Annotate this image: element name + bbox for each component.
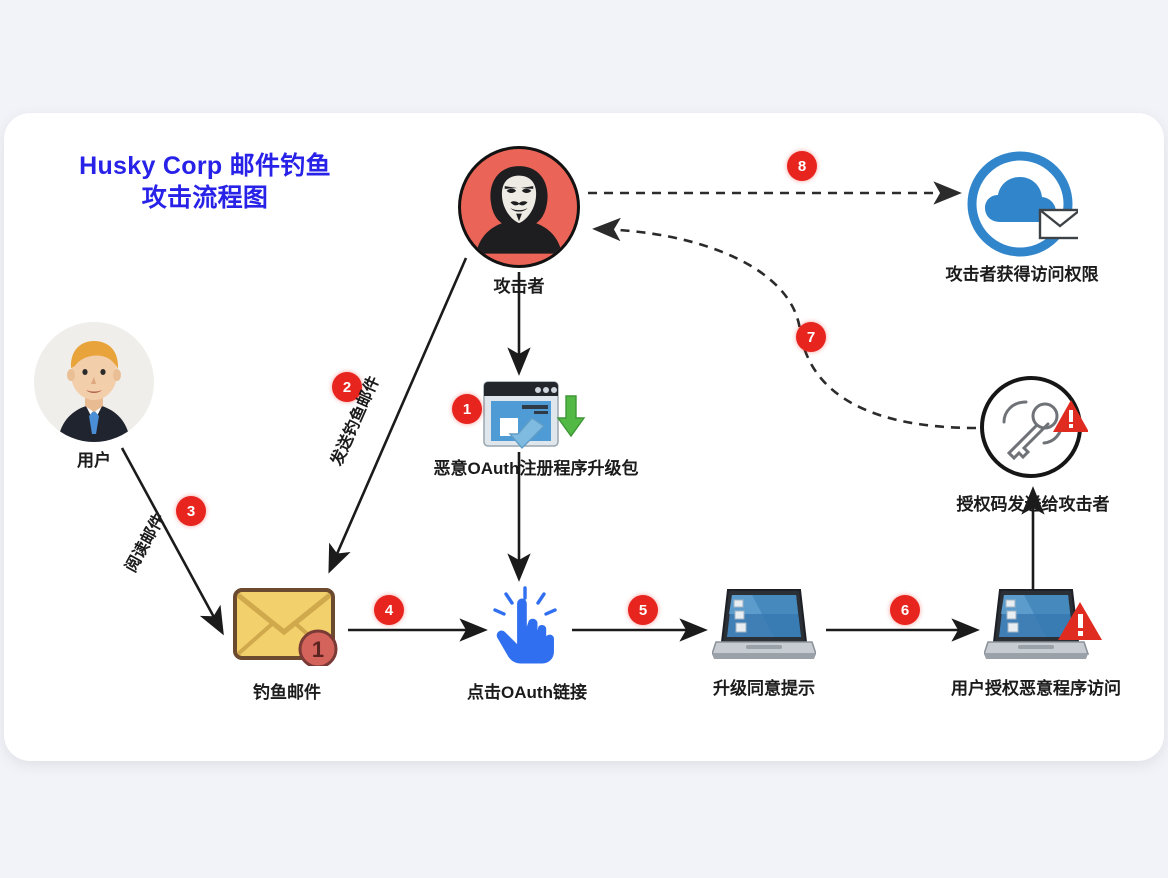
node-phishing-mail[interactable]: 1 钓鱼邮件 — [232, 586, 342, 666]
node-oauth-package[interactable]: 恶意OAuth注册程序升级包 — [478, 378, 586, 450]
node-grant-access-label: 用户授权恶意程序访问 — [951, 674, 1121, 699]
cloud-mail-icon — [966, 150, 1078, 262]
badge-step-3: 3 — [176, 496, 206, 526]
svg-text:1: 1 — [312, 637, 324, 662]
diagram-title: Husky Corp 邮件钓鱼 攻击流程图 — [60, 150, 350, 214]
node-auth-code-label: 授权码发送给攻击者 — [957, 490, 1110, 515]
title-line-2: 攻击流程图 — [60, 182, 350, 214]
node-cloud-access[interactable]: 攻击者获得访问权限 — [966, 150, 1078, 262]
node-consent-prompt[interactable]: 升级同意提示 — [712, 588, 816, 662]
key-warning-icon — [978, 372, 1088, 482]
user-avatar-icon — [34, 322, 154, 442]
node-cloud-access-label: 攻击者获得访问权限 — [946, 260, 1099, 285]
edge-label-step-3: 阅读邮件 — [118, 508, 170, 576]
node-auth-code[interactable]: 授权码发送给攻击者 — [978, 372, 1088, 482]
hacker-mask-icon — [458, 146, 580, 268]
badge-step-4: 4 — [374, 595, 404, 625]
pointing-hand-icon — [492, 586, 562, 668]
node-consent-prompt-label: 升级同意提示 — [713, 674, 815, 699]
envelope-badge-icon: 1 — [232, 586, 342, 666]
laptop-icon — [712, 588, 816, 662]
arrow-step-7 — [596, 229, 976, 428]
badge-step-8: 8 — [787, 151, 817, 181]
badge-step-1: 1 — [452, 394, 482, 424]
badge-step-6: 6 — [890, 595, 920, 625]
node-click-link[interactable]: 点击OAuth链接 — [492, 586, 562, 668]
node-click-link-label: 点击OAuth链接 — [467, 678, 587, 703]
node-attacker[interactable]: 攻击者 — [458, 146, 580, 268]
node-user-label: 用户 — [77, 446, 111, 471]
laptop-warning-icon — [984, 588, 1088, 662]
badge-step-5: 5 — [628, 595, 658, 625]
browser-download-icon — [478, 378, 586, 450]
node-attacker-label: 攻击者 — [494, 272, 545, 297]
node-grant-access[interactable]: 用户授权恶意程序访问 — [984, 588, 1088, 662]
node-phishing-mail-label: 钓鱼邮件 — [253, 678, 321, 703]
title-line-1: Husky Corp 邮件钓鱼 — [60, 150, 350, 182]
diagram-stage: Husky Corp 邮件钓鱼 攻击流程图 — [0, 0, 1168, 878]
badge-step-7: 7 — [796, 322, 826, 352]
node-user[interactable]: 用户 — [34, 322, 154, 442]
node-oauth-package-label: 恶意OAuth注册程序升级包 — [434, 454, 639, 479]
